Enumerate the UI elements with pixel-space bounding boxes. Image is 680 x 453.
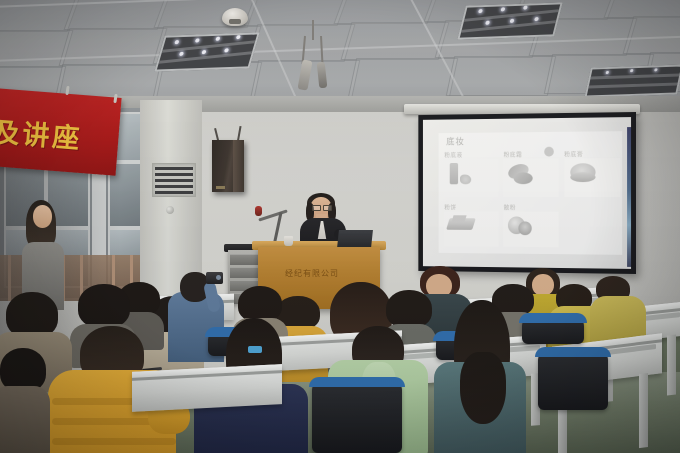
classroom-chair (312, 380, 402, 453)
product-thumbnail (564, 158, 620, 197)
slide-item-label: 粉饼 (444, 203, 456, 212)
laptop-icon (337, 230, 373, 248)
projection-screen-surface: 底妆 粉底液 粉底霜 粉底膏 (423, 117, 631, 269)
slide-item-label: 粉底霜 (504, 150, 523, 159)
projection-screen: 底妆 粉底液 粉底霜 粉底膏 (418, 112, 636, 274)
red-hanging-banner: 及讲座 (0, 88, 122, 176)
microphone-head-icon (255, 206, 262, 216)
product-thumbnail (444, 159, 498, 197)
slide-item-label: 粉底膏 (564, 150, 583, 159)
product-thumbnail (444, 211, 498, 246)
ceiling-light-fixture (457, 2, 562, 39)
air-conditioner-vent-icon (152, 163, 196, 197)
wall-knob (166, 206, 174, 214)
ceiling-light-fixture (154, 32, 259, 71)
classroom-chair (538, 350, 608, 410)
product-thumbnail (504, 212, 559, 248)
screen-edge-glow (627, 127, 631, 267)
smoke-detector-icon (222, 8, 248, 26)
classroom-chair (522, 316, 584, 344)
slide-item: 散粉 (504, 203, 559, 252)
slide-item: 粉底液 (444, 150, 498, 199)
mug-icon (284, 236, 293, 246)
product-thumbnail (504, 159, 559, 197)
eyeglasses-icon (312, 205, 330, 209)
camera-icon (206, 272, 223, 284)
slide-item: 粉底霜 (504, 150, 559, 199)
slide-item-label: 散粉 (504, 203, 516, 212)
slide-item-label: 粉底液 (444, 151, 462, 160)
slide-item: 粉饼 (444, 203, 498, 252)
wall-speaker-icon (212, 140, 244, 192)
standing-attendee-head (33, 205, 52, 228)
lecture-room-photo: 底妆 粉底液 粉底霜 粉底膏 (0, 0, 680, 453)
podium-company-text: 经纪有限公司 (285, 268, 377, 279)
slide-title: 底妆 (446, 135, 465, 148)
ceiling-light-fixture (584, 64, 680, 97)
banner-text: 及讲座 (0, 110, 118, 159)
computer-desk (132, 364, 282, 412)
projected-slide: 底妆 粉底液 粉底霜 粉底膏 (439, 131, 622, 255)
slide-item: 粉底膏 (564, 149, 620, 199)
